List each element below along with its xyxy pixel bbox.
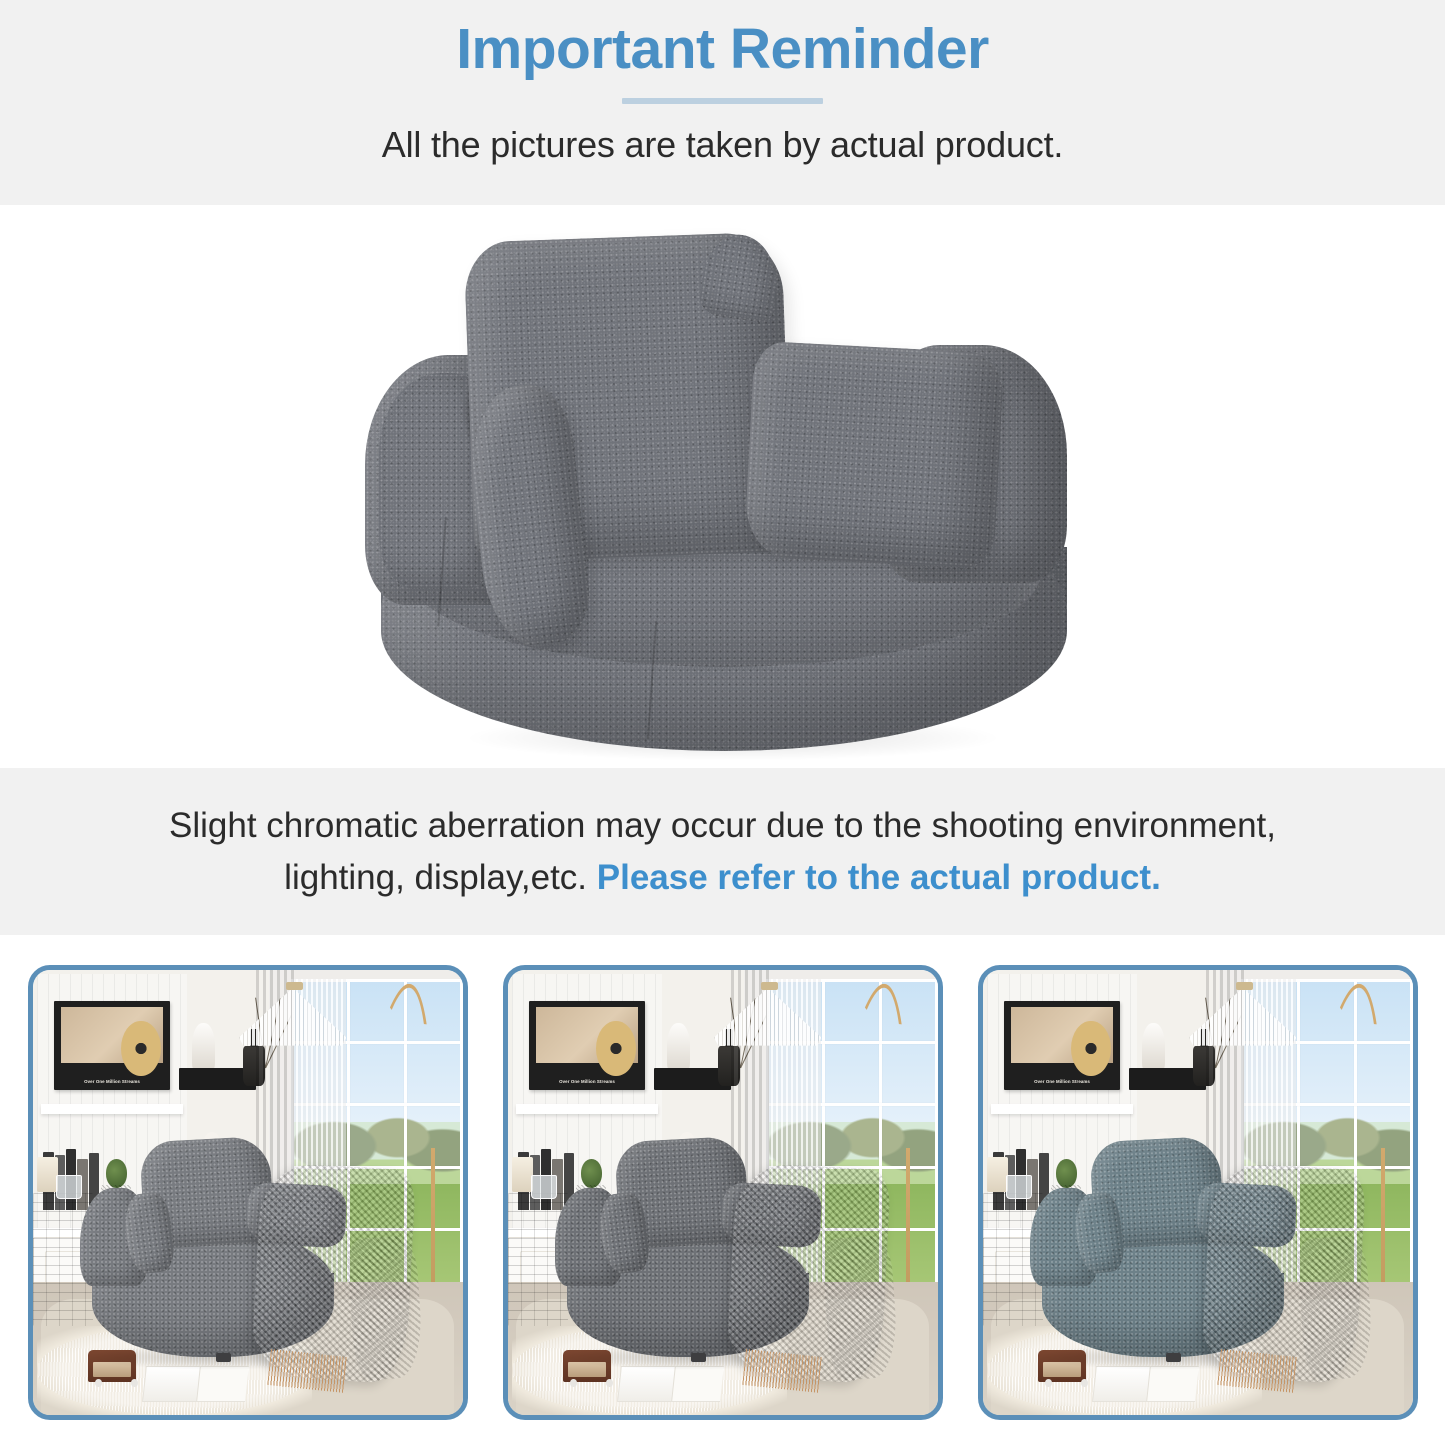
candle [512,1157,534,1193]
glass-jar [56,1175,82,1199]
swivel-foot [691,1353,706,1362]
disclaimer-band: Slight chromatic aberration may occur du… [0,768,1445,935]
living-room-scene: Over One Million Streams [33,970,463,1415]
open-magazine [617,1366,724,1402]
poster-caption: Over One Million Streams [536,1079,638,1084]
disclaimer-accent-text: Please refer to the actual product. [597,858,1161,897]
throw-blanket-tail [1296,1235,1375,1382]
lifestyle-thumbnail-2[interactable]: Over One Million Streams [503,965,943,1420]
upper-shelf [41,1104,183,1115]
lifestyle-thumbnail-1[interactable]: Over One Million Streams [28,965,468,1420]
upper-shelf [516,1104,658,1115]
lamp-finial [761,982,778,991]
page-subtitle: All the pictures are taken by actual pro… [382,124,1063,166]
framed-poster: Over One Million Streams [54,1001,170,1090]
candle [37,1157,59,1193]
gold-record-icon [1071,1021,1110,1076]
candle [987,1157,1009,1193]
header-band: Important Reminder All the pictures are … [0,0,1445,205]
swivel-foot [1166,1353,1181,1362]
open-magazine [142,1366,249,1402]
page-title: Important Reminder [456,18,989,81]
living-room-scene: Over One Million Streams [508,970,938,1415]
figurine [667,1023,691,1072]
glass-jar [531,1175,557,1199]
hero-product-image [0,205,1445,768]
figurine [1142,1023,1166,1072]
title-divider [622,98,823,104]
open-magazine [1092,1366,1199,1402]
product-infographic-page: Important Reminder All the pictures are … [0,0,1445,1445]
throw-blanket-tail [346,1235,425,1382]
swivel-chair-illustration [343,217,1103,762]
disclaimer-line-2: lighting, display,etc. Please refer to t… [284,852,1161,903]
poster-caption: Over One Million Streams [1011,1079,1113,1084]
lamp-finial [1236,982,1253,991]
gold-record-icon [121,1021,160,1076]
figurine [192,1023,216,1072]
upper-shelf [991,1104,1133,1115]
throw-fringe [1217,1349,1298,1392]
disclaimer-line-2-plain: lighting, display,etc. [284,858,597,897]
throw-fringe [742,1349,823,1392]
framed-poster: Over One Million Streams [1004,1001,1120,1090]
lamp-finial [286,982,303,991]
throw-fringe [267,1349,348,1392]
swivel-foot [216,1353,231,1362]
gold-record-icon [596,1021,635,1076]
poster-caption: Over One Million Streams [61,1079,163,1084]
living-room-scene: Over One Million Streams [983,970,1413,1415]
throw-blanket-tail [821,1235,900,1382]
glass-jar [1006,1175,1032,1199]
chair-right-pillow [743,341,1004,570]
lifestyle-thumbnail-3[interactable]: Over One Million Streams [978,965,1418,1420]
framed-poster: Over One Million Streams [529,1001,645,1090]
lifestyle-thumbnail-row: Over One Million Streams [0,935,1445,1445]
disclaimer-line-1: Slight chromatic aberration may occur du… [169,800,1276,851]
